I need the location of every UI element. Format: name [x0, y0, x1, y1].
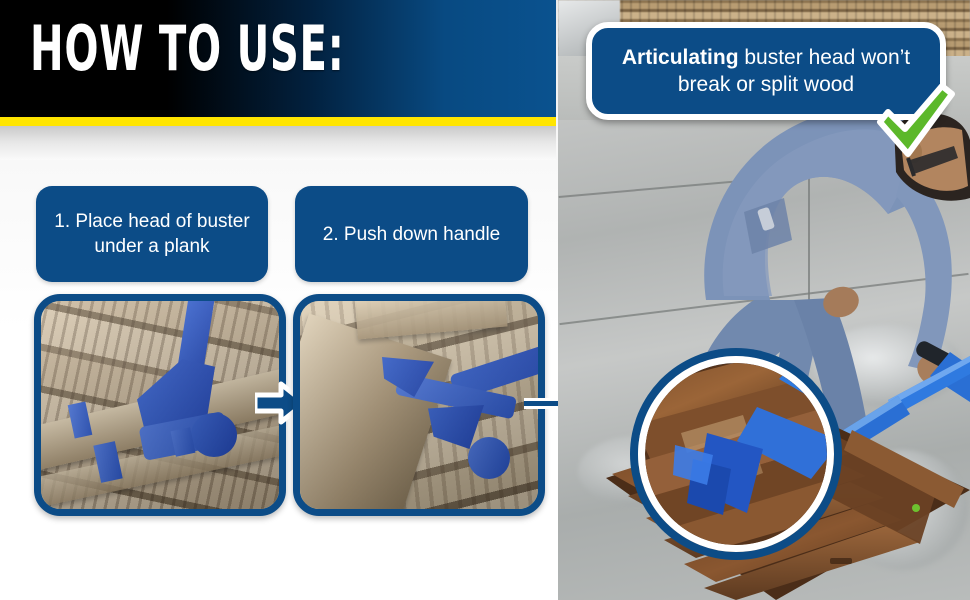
callout-emphasis: Articulating: [622, 46, 739, 69]
magnifier-content: [645, 363, 827, 545]
yellow-accent-stripe: [0, 117, 556, 126]
step-1-caption-box: 1. Place head of buster under a plank: [36, 186, 268, 282]
step-1-photo: [34, 294, 286, 516]
header-shadow-gradient: [0, 126, 556, 160]
photo-vignette: [300, 301, 538, 509]
infographic-canvas: HOW TO USE: 1. Place head of buster unde…: [0, 0, 970, 600]
header-band: HOW TO USE:: [0, 0, 556, 117]
step-2-caption-box: 2. Push down handle: [295, 186, 528, 282]
photo-vignette: [41, 301, 279, 509]
left-instructions-panel: HOW TO USE: 1. Place head of buster unde…: [0, 0, 558, 600]
check-icon: [872, 84, 956, 160]
step-1-label: 1. Place head of buster under a plank: [40, 209, 263, 259]
step-2-photo: [293, 294, 545, 516]
step-1-photo-content: [41, 301, 279, 509]
step-2-photo-content: [300, 301, 538, 509]
page-title: HOW TO USE:: [30, 18, 344, 80]
step-2-label: 2. Push down handle: [309, 222, 514, 247]
magnifier-circle: [638, 356, 834, 552]
